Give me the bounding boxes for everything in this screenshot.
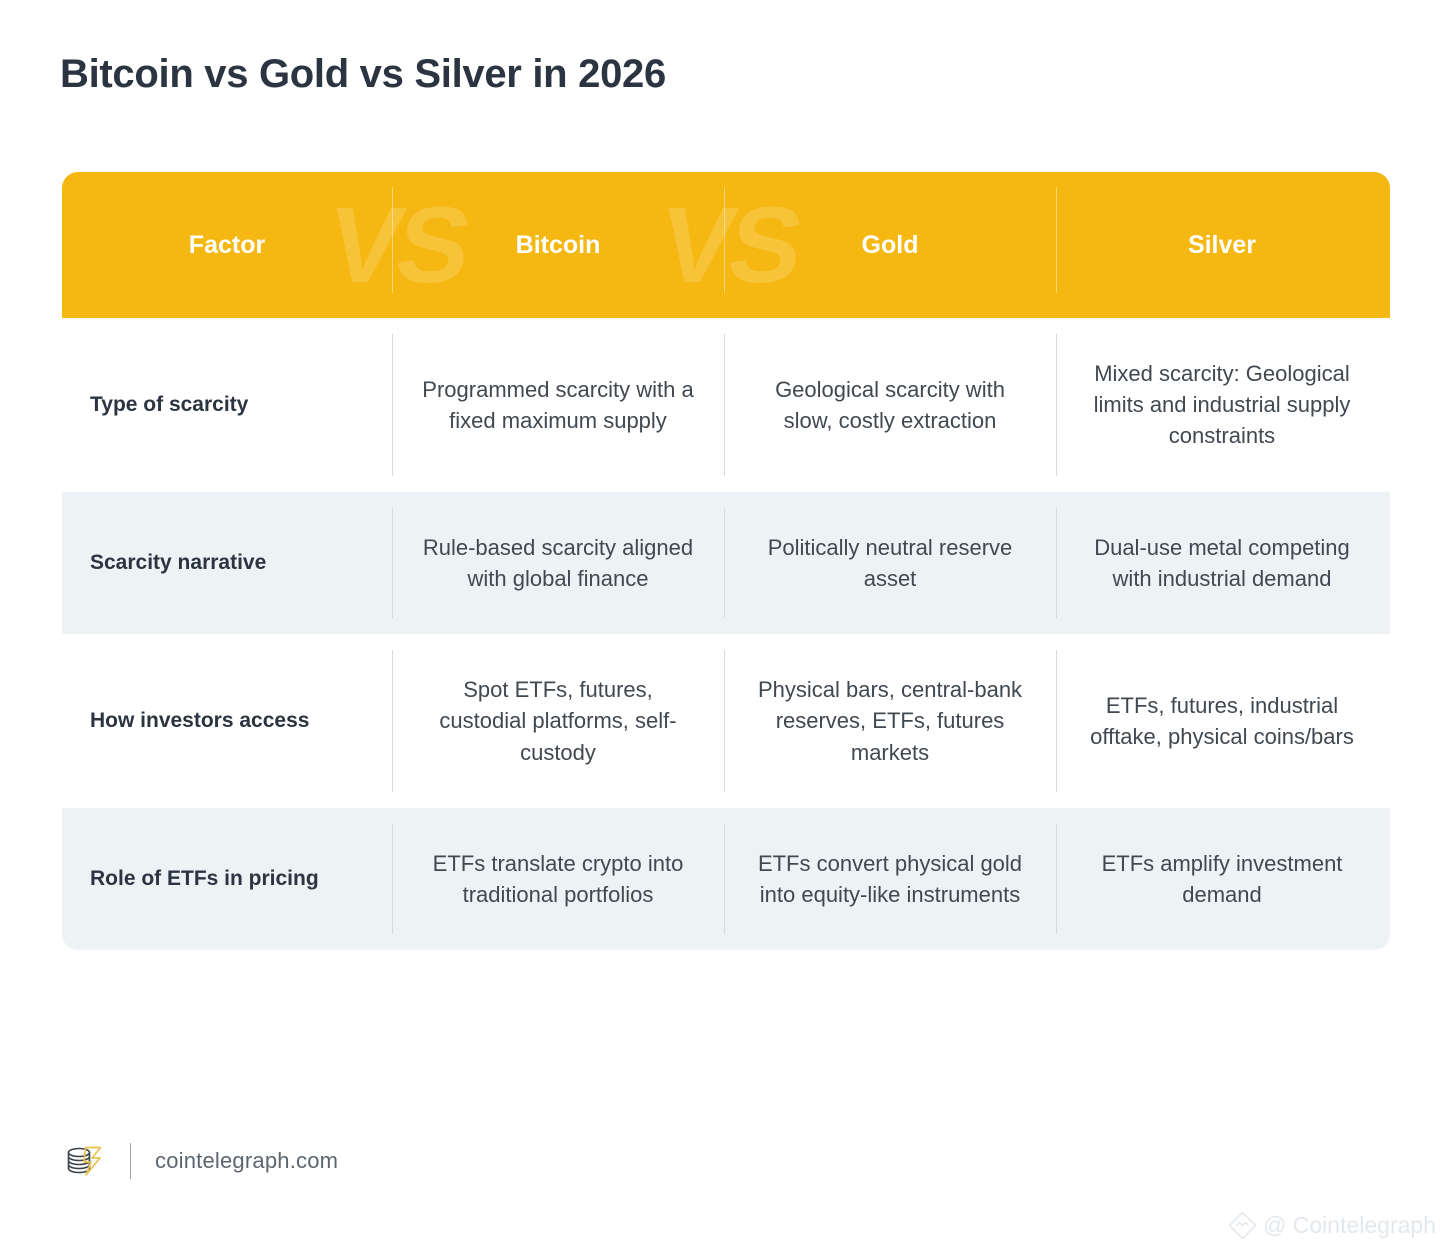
row-factor-label: How investors access [62,634,392,808]
row-factor-label: Role of ETFs in pricing [62,808,392,950]
row-cell-gold: Physical bars, central-bank reserves, ET… [724,634,1056,808]
table-row: How investors access Spot ETFs, futures,… [62,634,1390,808]
column-header-silver: Silver [1056,231,1388,260]
row-cell-gold: Politically neutral reserve asset [724,492,1056,634]
row-cell-bitcoin: Spot ETFs, futures, custodial platforms,… [392,634,724,808]
row-cell-bitcoin: Programmed scarcity with a fixed maximum… [392,318,724,492]
footer-divider [130,1143,131,1179]
table-row: Scarcity narrative Rule-based scarcity a… [62,492,1390,634]
column-header-factor: Factor [62,231,392,260]
footer: cointelegraph.com [62,1133,338,1189]
row-factor-label: Scarcity narrative [62,492,392,634]
table-row: Type of scarcity Programmed scarcity wit… [62,318,1390,492]
cointelegraph-watermark: @ Cointelegraph [1229,1212,1436,1239]
row-cell-bitcoin: ETFs translate crypto into traditional p… [392,808,724,950]
row-factor-label: Type of scarcity [62,318,392,492]
column-header-bitcoin: Bitcoin [392,231,724,260]
row-cell-silver: ETFs amplify investment demand [1056,808,1388,950]
row-cell-gold: ETFs convert physical gold into equity-l… [724,808,1056,950]
page-title: Bitcoin vs Gold vs Silver in 2026 [60,52,666,97]
row-cell-gold: Geological scarcity with slow, costly ex… [724,318,1056,492]
watermark-label: @ Cointelegraph [1263,1212,1436,1239]
table-row: Role of ETFs in pricing ETFs translate c… [62,808,1390,950]
column-header-gold: Gold [724,231,1056,260]
table-header-row: VS VS Factor Bitcoin Gold Silver [62,172,1390,318]
row-cell-bitcoin: Rule-based scarcity aligned with global … [392,492,724,634]
row-cell-silver: Dual-use metal competing with industrial… [1056,492,1388,634]
diamond-icon [1229,1212,1256,1239]
cointelegraph-coin-stack-bolt-icon [62,1138,108,1184]
footer-site-url: cointelegraph.com [155,1148,338,1174]
row-cell-silver: Mixed scarcity: Geological limits and in… [1056,318,1388,492]
row-cell-silver: ETFs, futures, industrial offtake, physi… [1056,634,1388,808]
comparison-table: VS VS Factor Bitcoin Gold Silver Type of… [62,172,1390,950]
